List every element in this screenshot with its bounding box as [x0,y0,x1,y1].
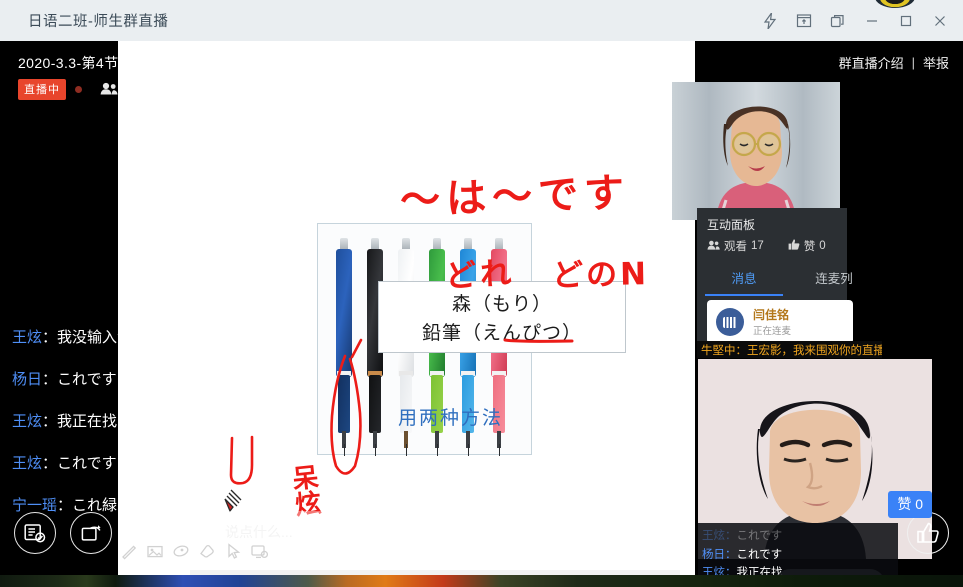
panel-viewers-label: 观看 [724,238,747,254]
pencil-icon[interactable] [120,542,138,560]
panel-title: 互动面板 [707,216,755,233]
chat-separator: ： [42,329,57,346]
like-button[interactable]: 赞 0 [907,512,949,554]
live-stage: 森（もり） 鉛筆（えんぴつ） 用两种方法 〜は〜です どれ どのN 呆 炫 [0,41,963,575]
mic-user-status: 正在连麦 [753,323,791,337]
avatar [716,308,744,336]
screen-icon[interactable] [250,542,268,560]
chat-text: これです [57,371,117,388]
send-button[interactable]: 发送 [462,522,490,542]
recording-dot-icon [75,86,82,93]
link-separator: | [912,55,915,70]
chat-separator: ： [42,413,57,430]
live-intro-link[interactable]: 群直播介绍 [839,53,904,72]
viewer-count: 17 人观看 [100,80,181,99]
shared-screen: 森（もり） 鉛筆（えんぴつ） 用两种方法 [118,41,695,575]
message-input[interactable]: 说点什么... [225,522,293,542]
list-item: 王炫：これです [12,452,182,473]
window-title: 日语二班-师生群直播 [28,10,168,31]
marquee-notice: 牛堅中：王宏影，我来围观你的直播 [697,341,882,358]
vocabulary-box: 森（もり） 鉛筆（えんぴつ） [378,281,626,353]
chat-text: これです [57,455,117,472]
desktop-wallpaper-strip [0,575,963,587]
vocab-line: 鉛筆（えんぴつ） [422,318,582,345]
viewers-icon [707,240,720,253]
eraser-icon[interactable] [198,542,216,560]
viewers-icon [100,82,118,98]
list-item: 杨日：これです [12,368,182,389]
toolbar-residue [190,570,680,575]
panel-viewers-value: 17 [751,240,764,252]
chat-author: 王炫 [12,329,42,346]
report-link[interactable]: 举报 [923,53,949,72]
chat-separator: ： [42,455,57,472]
vocab-line: 森（もり） [452,289,552,316]
mic-user-name: 闫佳铭 [753,308,791,323]
panel-likes-value: 0 [819,240,825,252]
flash-icon[interactable] [753,0,787,41]
live-status-row: 直播中 17 人观看 [18,79,181,100]
bottom-toolbar: 超清 说点什么... 发送 赞 0 [0,503,963,563]
pin-window-icon[interactable] [787,0,821,41]
mic-user-info: 闫佳铭 正在连麦 [753,308,791,337]
stage-header-links: 群直播介绍 | 举报 [839,53,949,72]
chevron-down-icon [176,529,186,535]
rotate-screen-icon[interactable] [70,512,112,554]
annotation-toolbar [120,541,290,561]
tab-messages[interactable]: 消息 [697,262,791,297]
slide-content: 森（もり） 鉛筆（えんぴつ） 用两种方法 [170,181,695,526]
panel-viewers-stat: 观看 17 [707,238,764,254]
window-controls [753,0,957,41]
tab-mic-queue[interactable]: 连麦列 [791,262,877,297]
slide-blue-note: 用两种方法 [398,403,503,430]
chat-text: 我没输入法 [57,329,132,346]
lesson-title: 2020-3.3-第4节课 [18,53,133,73]
status-badge: 直播中 [18,79,66,100]
chat-text: 我正在找 [57,413,117,430]
quality-label: 超清 [141,522,169,542]
interaction-panel: 互动面板 观看 17 赞 0 消息 [697,208,847,356]
panel-likes-stat: 赞 0 [788,238,826,254]
thumbs-up-icon [788,239,800,253]
chat-author: 王炫 [12,413,42,430]
chat-author: 王炫 [12,455,42,472]
list-item [334,238,354,454]
list-item: 王炫：我正在找 [12,410,182,431]
panel-likes-label: 赞 [804,238,816,254]
panel-tabs: 消息 连麦列 [697,262,847,297]
whiteboard-icon[interactable] [14,512,56,554]
teacher-video-feed[interactable] [672,82,840,220]
viewer-count-label: 17 人观看 [124,80,181,99]
chat-author: 杨日 [12,371,42,388]
close-icon[interactable] [923,0,957,41]
panel-stats: 观看 17 赞 0 [707,238,826,254]
duplicate-icon[interactable] [821,0,855,41]
window-titlebar: 日语二班-师生群直播 [0,0,963,41]
like-count-badge: 赞 0 [888,491,932,518]
mic-queue-card[interactable]: 闫佳铭 正在连麦 [707,300,853,344]
live-class-window: 日语二班-师生群直播 [0,0,963,587]
image-icon[interactable] [146,542,164,560]
list-item: 王炫：我没输入法 [12,326,182,347]
pen-icon[interactable] [172,542,190,560]
cursor-icon[interactable] [224,542,242,560]
chat-separator: ： [42,371,57,388]
